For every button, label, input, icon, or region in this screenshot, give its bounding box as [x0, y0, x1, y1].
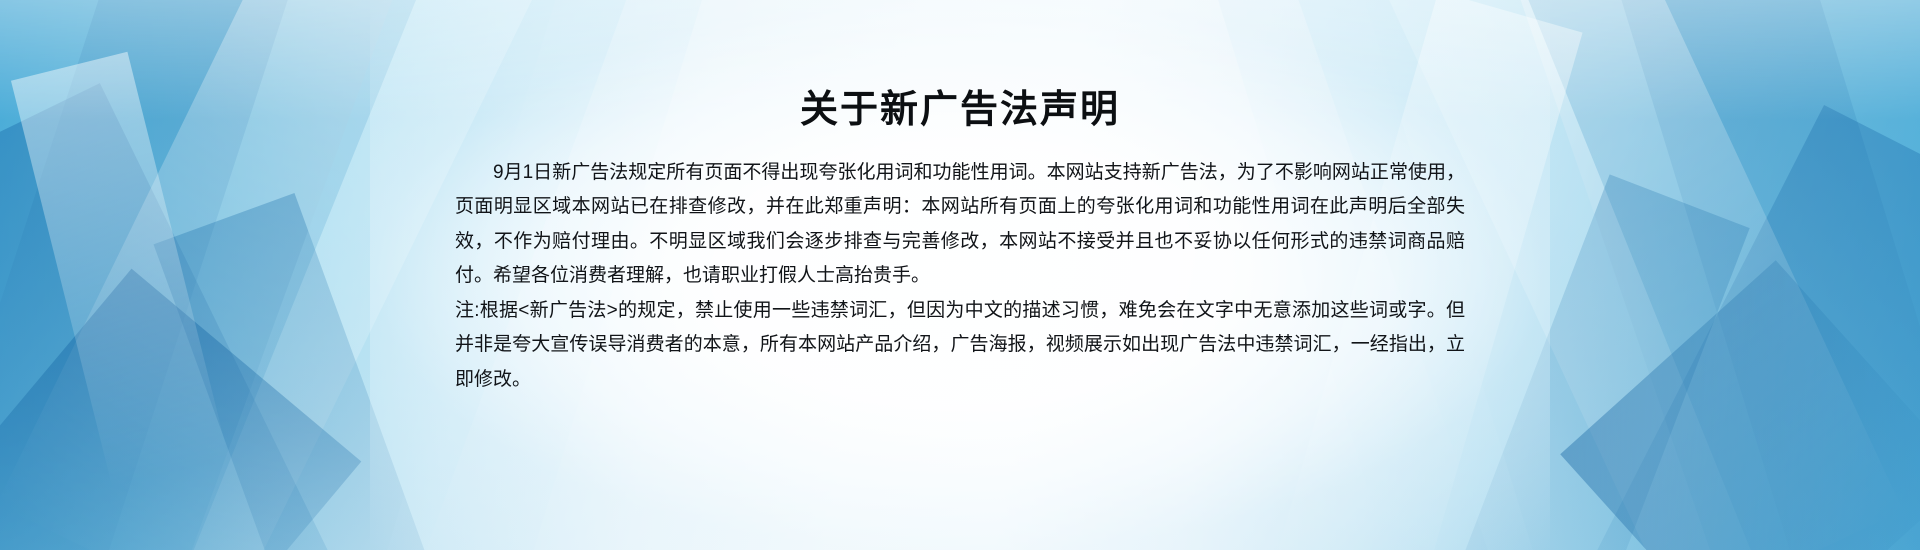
statement-paragraph-main: 9月1日新广告法规定所有页面不得出现夸张化用词和功能性用词。本网站支持新广告法，…: [455, 134, 1465, 294]
page-title: 关于新广告法声明: [455, 0, 1465, 134]
statement-paragraph-note: 注:根据<新广告法>的规定，禁止使用一些违禁词汇，但因为中文的描述习惯，难免会在…: [455, 294, 1465, 398]
statement-content: 关于新广告法声明 9月1日新广告法规定所有页面不得出现夸张化用词和功能性用词。本…: [455, 0, 1465, 550]
advertising-law-statement-banner: 关于新广告法声明 9月1日新广告法规定所有页面不得出现夸张化用词和功能性用词。本…: [0, 0, 1920, 550]
